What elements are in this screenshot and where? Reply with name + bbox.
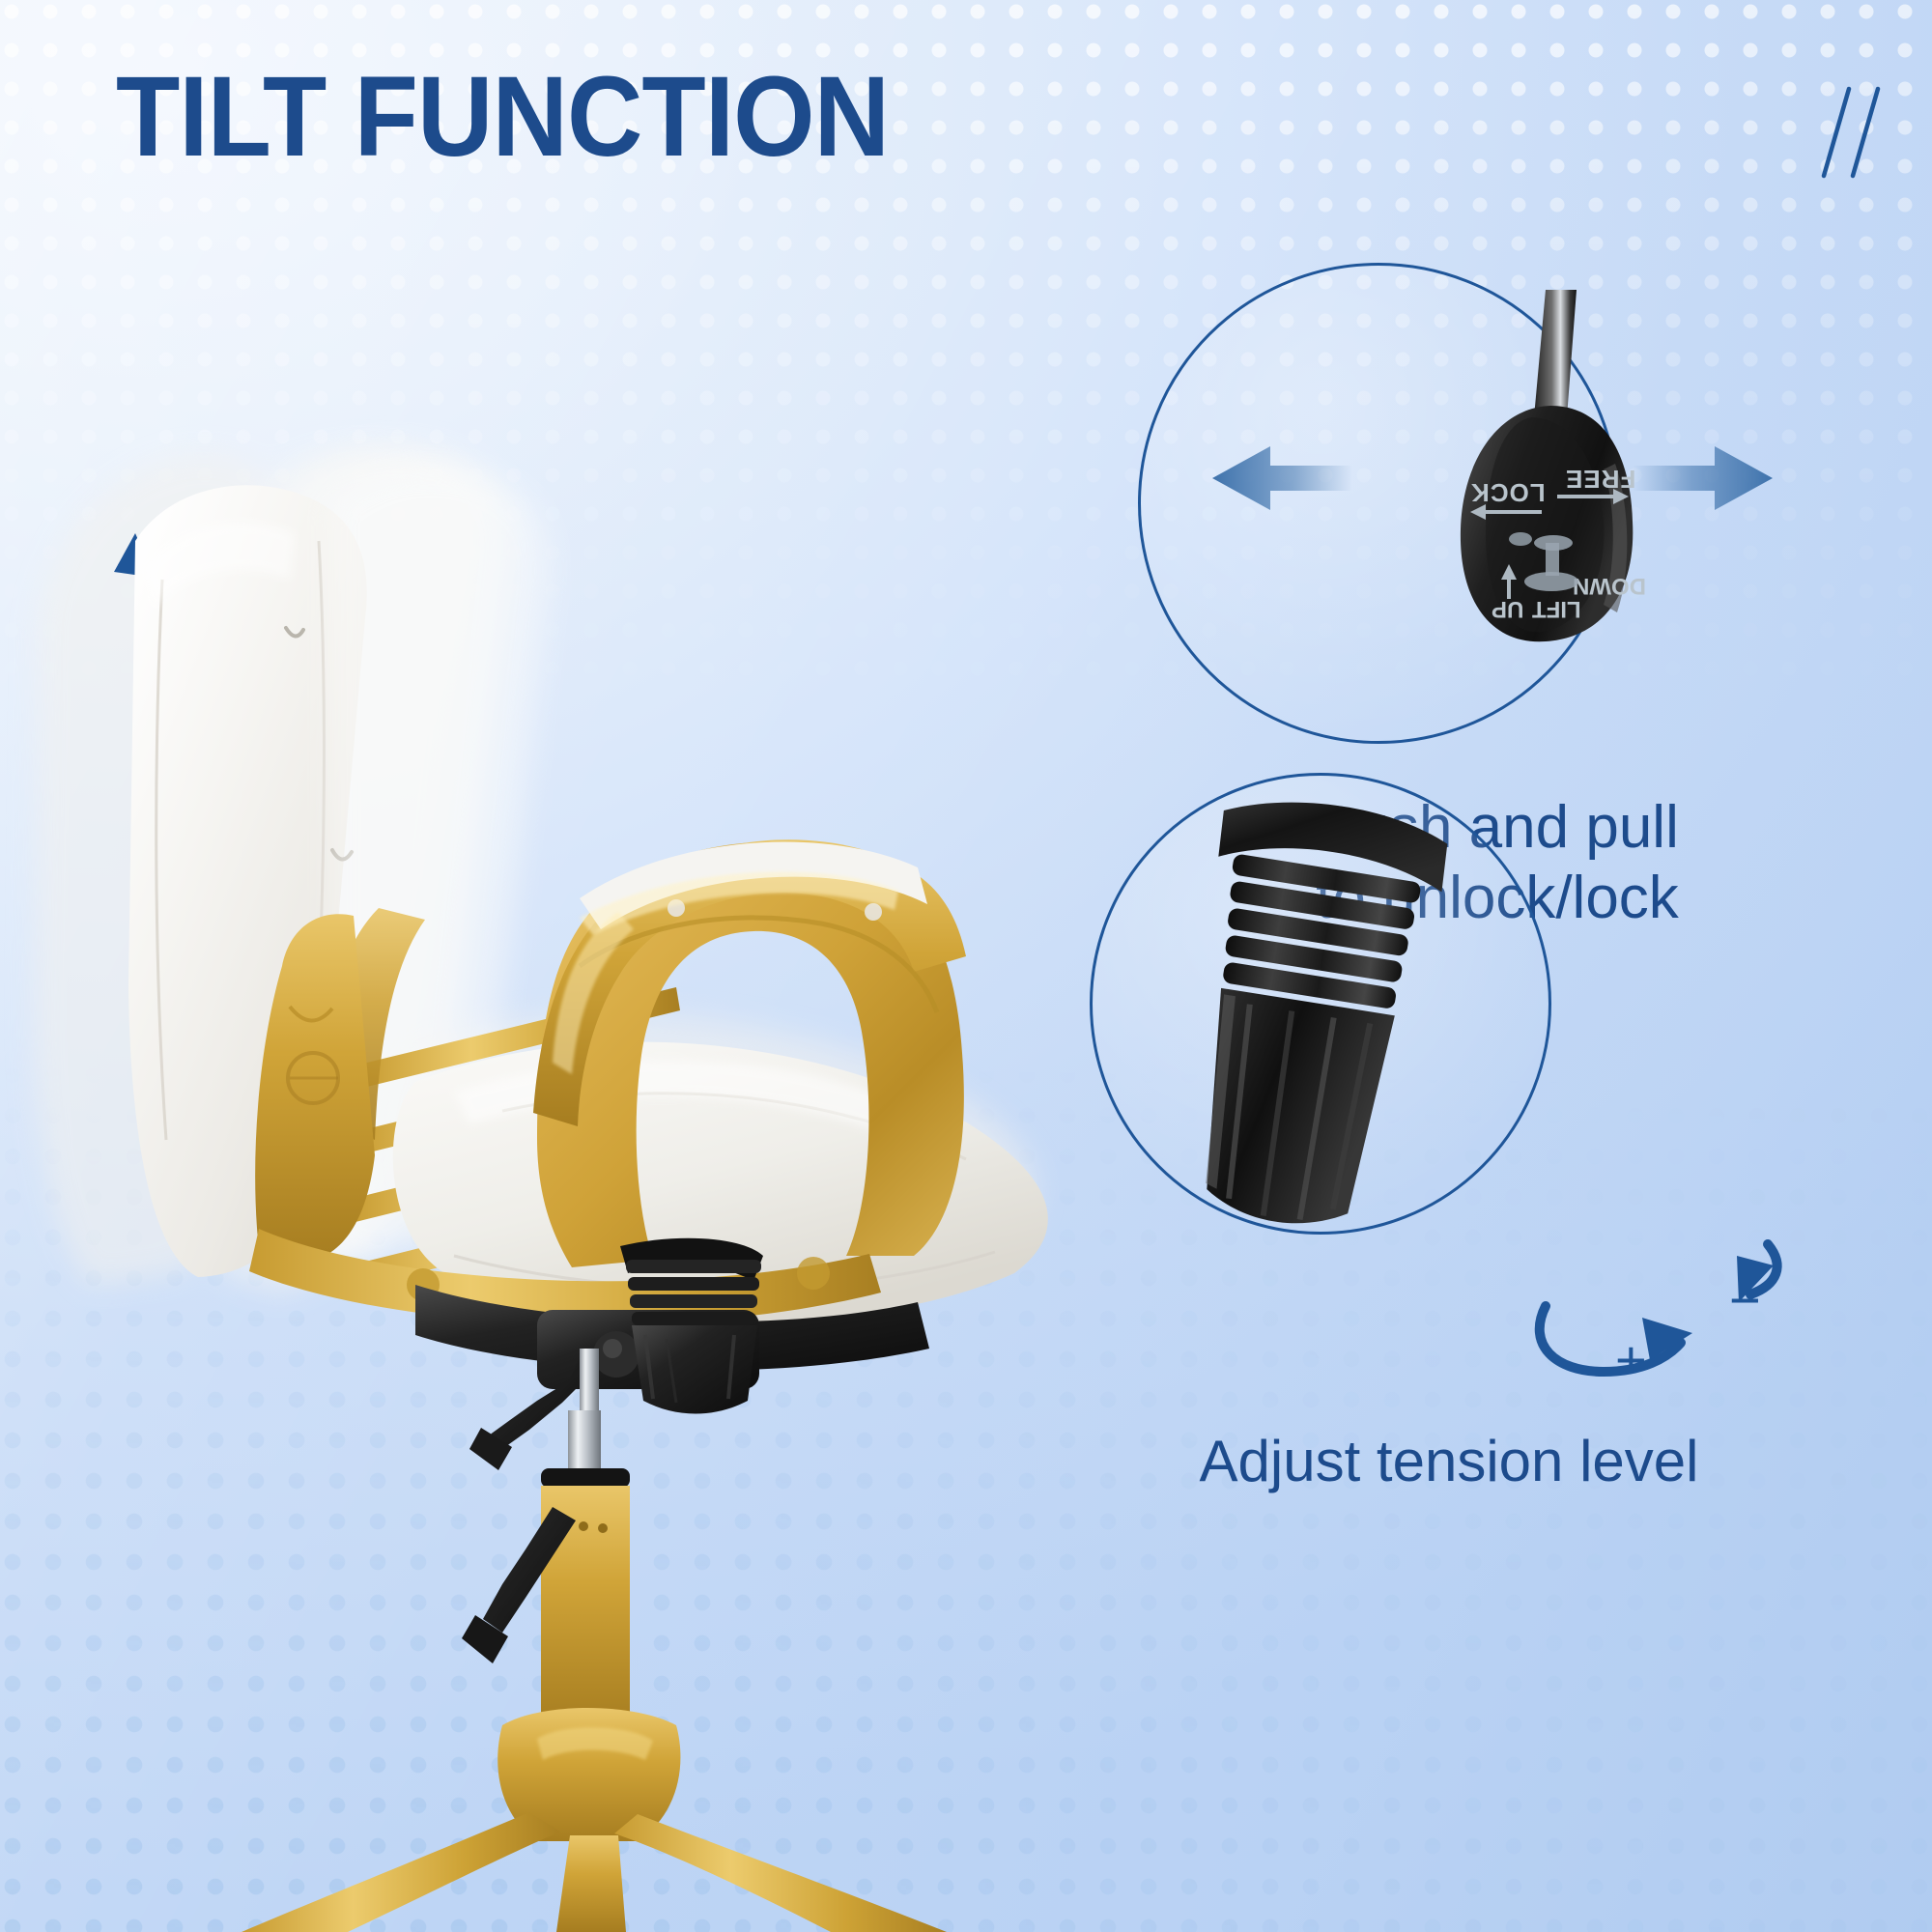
background-sheen bbox=[0, 0, 1932, 1932]
caption-tension-knob: Adjust tension level bbox=[985, 1428, 1913, 1496]
lever-arrow-glyphs bbox=[1449, 454, 1652, 618]
page-title: TILT FUNCTION bbox=[116, 50, 889, 185]
tension-minus-symbol: − bbox=[1729, 1273, 1761, 1327]
lever-markings: LOCK FREE DOWN LIFT UP bbox=[1449, 454, 1652, 618]
callout-ring-tension-knob bbox=[1090, 773, 1551, 1235]
double-slash-icon bbox=[1799, 79, 1886, 185]
infographic-canvas: TILT FUNCTION bbox=[0, 0, 1932, 1932]
tension-plus-symbol: + bbox=[1615, 1333, 1647, 1387]
